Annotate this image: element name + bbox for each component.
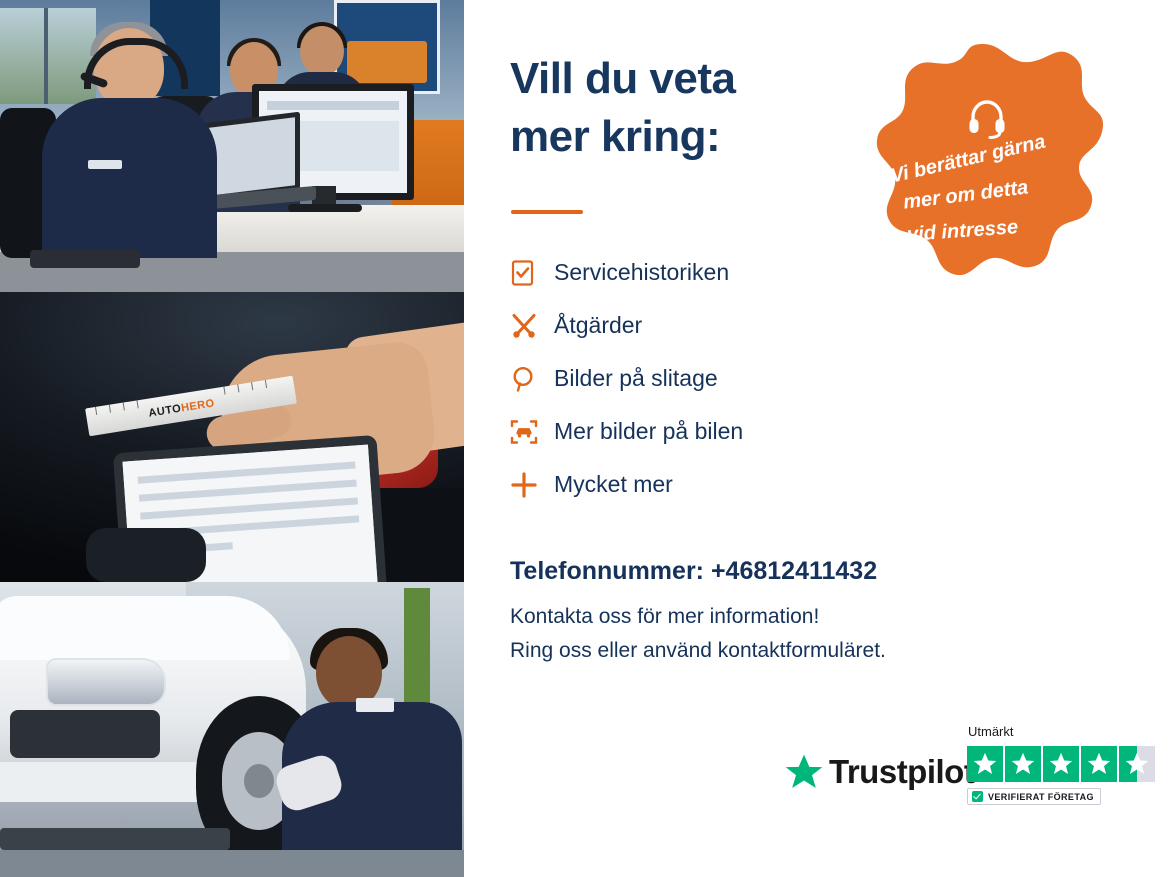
inspection-photo: AUTOHERO [0, 292, 464, 582]
tablet-on-desk [30, 250, 140, 268]
content-column: Vill du veta mer kring: Servicehistorike… [464, 0, 1170, 877]
title-underline [511, 210, 583, 214]
trustpilot-wordmark: Trustpilot [829, 753, 974, 791]
workshop-photo [0, 582, 464, 877]
list-item: Åtgärder [510, 299, 930, 352]
page-title-line-2: mer kring: [510, 108, 736, 166]
list-item-label: Bilder på slitage [554, 365, 718, 392]
car-grille [10, 710, 160, 758]
marketing-flyer: AUTOHERO [0, 0, 1170, 877]
list-item-label: Servicehistoriken [554, 259, 729, 286]
car-scan-icon [510, 419, 554, 445]
holding-hand [86, 528, 206, 582]
phone-line: Telefonnummer: +46812411432 [510, 557, 877, 586]
verified-company-badge: VERIFIERAT FÖRETAG [967, 788, 1101, 805]
shirt-logo [88, 160, 122, 169]
verified-label: VERIFIERAT FÖRETAG [988, 792, 1094, 802]
list-item: Mycket mer [510, 458, 930, 511]
trustpilot-stars [967, 746, 1157, 782]
plus-icon [510, 471, 554, 499]
head [300, 26, 344, 76]
car-lift [0, 828, 230, 850]
trustpilot-rating-label: Utmärkt [968, 724, 1014, 739]
ruler-brand: AUTOHERO [148, 397, 216, 419]
workshop-floor [0, 850, 464, 877]
list-item-label: Åtgärder [554, 312, 642, 339]
agent-with-headset [36, 20, 211, 256]
contact-line-2: Ring oss eller använd kontaktformuläret. [510, 639, 886, 663]
shirt-logo [356, 698, 394, 712]
mechanic [282, 636, 462, 877]
list-item: Bilder på slitage [510, 352, 930, 405]
star-5-half [1119, 746, 1155, 782]
star-1 [967, 746, 1003, 782]
monitor-base [288, 204, 362, 212]
check-icon [972, 791, 983, 802]
badge-burst-shape [863, 40, 1103, 295]
tools-icon [510, 312, 554, 340]
page-title-line-1: Vill du veta [510, 50, 736, 108]
list-item-label: Mer bilder på bilen [554, 418, 743, 445]
torso [42, 98, 217, 258]
call-center-photo [0, 0, 464, 292]
callout-badge: Vi berättar gärna mer om detta vid intre… [863, 40, 1103, 295]
headset-icon [965, 96, 1009, 140]
car-headlight [46, 658, 166, 706]
trustpilot-star-icon [784, 752, 824, 792]
photo-column: AUTOHERO [0, 0, 464, 877]
phone-number[interactable]: +46812411432 [711, 557, 877, 585]
page-title: Vill du veta mer kring: [510, 50, 736, 166]
trustpilot-widget[interactable]: Trustpilot Utmärkt [784, 724, 1124, 820]
list-item: Mer bilder på bilen [510, 405, 930, 458]
checklist-icon [510, 260, 554, 286]
star-2 [1005, 746, 1041, 782]
star-3 [1043, 746, 1079, 782]
phone-label: Telefonnummer: [510, 557, 704, 585]
trustpilot-logo: Trustpilot [784, 752, 974, 792]
car-hood [0, 596, 290, 660]
list-item-label: Mycket mer [554, 471, 673, 498]
star-4 [1081, 746, 1117, 782]
magnifier-icon [510, 365, 554, 393]
contact-line-1: Kontakta oss för mer information! [510, 605, 819, 629]
